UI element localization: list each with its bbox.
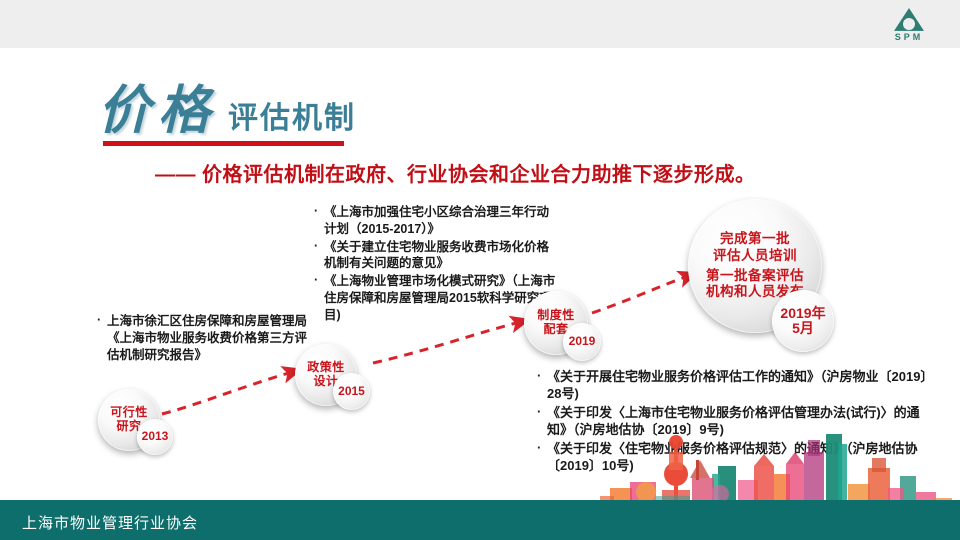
footer-text: 上海市物业管理行业协会 — [22, 512, 198, 533]
text-block-left: 上海市徐汇区住房保障和房屋管理局《上海市物业服务收费价格第三方评估机制研究报告》 — [96, 313, 309, 364]
list-item: 《关于建立住宅物业服务收费市场化价格机制有关问题的意见》 — [313, 239, 557, 273]
timeline-year-2019: 2019 — [563, 323, 601, 361]
list-item: 上海市徐汇区住房保障和房屋管理局《上海市物业服务收费价格第三方评估机制研究报告》 — [96, 313, 309, 363]
list-item: 《上海市加强住宅小区综合治理三年行动计划（2015-2017）》 — [313, 204, 557, 238]
shanghai-skyline-illustration-icon — [600, 430, 960, 510]
timeline-year-2013: 2013 — [137, 419, 173, 455]
slide-canvas: SPM 价格 评估机制 —— 价格评估机制在政府、行业协会和企业合力助推下逐步形… — [0, 0, 960, 540]
list-item: 《关于开展住宅物业服务价格评估工作的通知》（沪房物业〔2019〕28号) — [536, 368, 936, 403]
text-block-top: 《上海市加强住宅小区综合治理三年行动计划（2015-2017）》 《关于建立住宅… — [313, 204, 557, 324]
timeline-year-2019-05: 2019年 5月 — [772, 290, 834, 352]
timeline-year-lines: 2019年 5月 — [780, 306, 825, 337]
list-item: 《上海物业管理市场化模式研究》（上海市住房保障和房屋管理局2015软科学研究项目… — [313, 273, 557, 323]
timeline-year-2015: 2015 — [333, 373, 370, 410]
timeline-node-label: 完成第一批 评估人员培训 第一批备案评估 机构和人员发布 — [706, 231, 804, 301]
